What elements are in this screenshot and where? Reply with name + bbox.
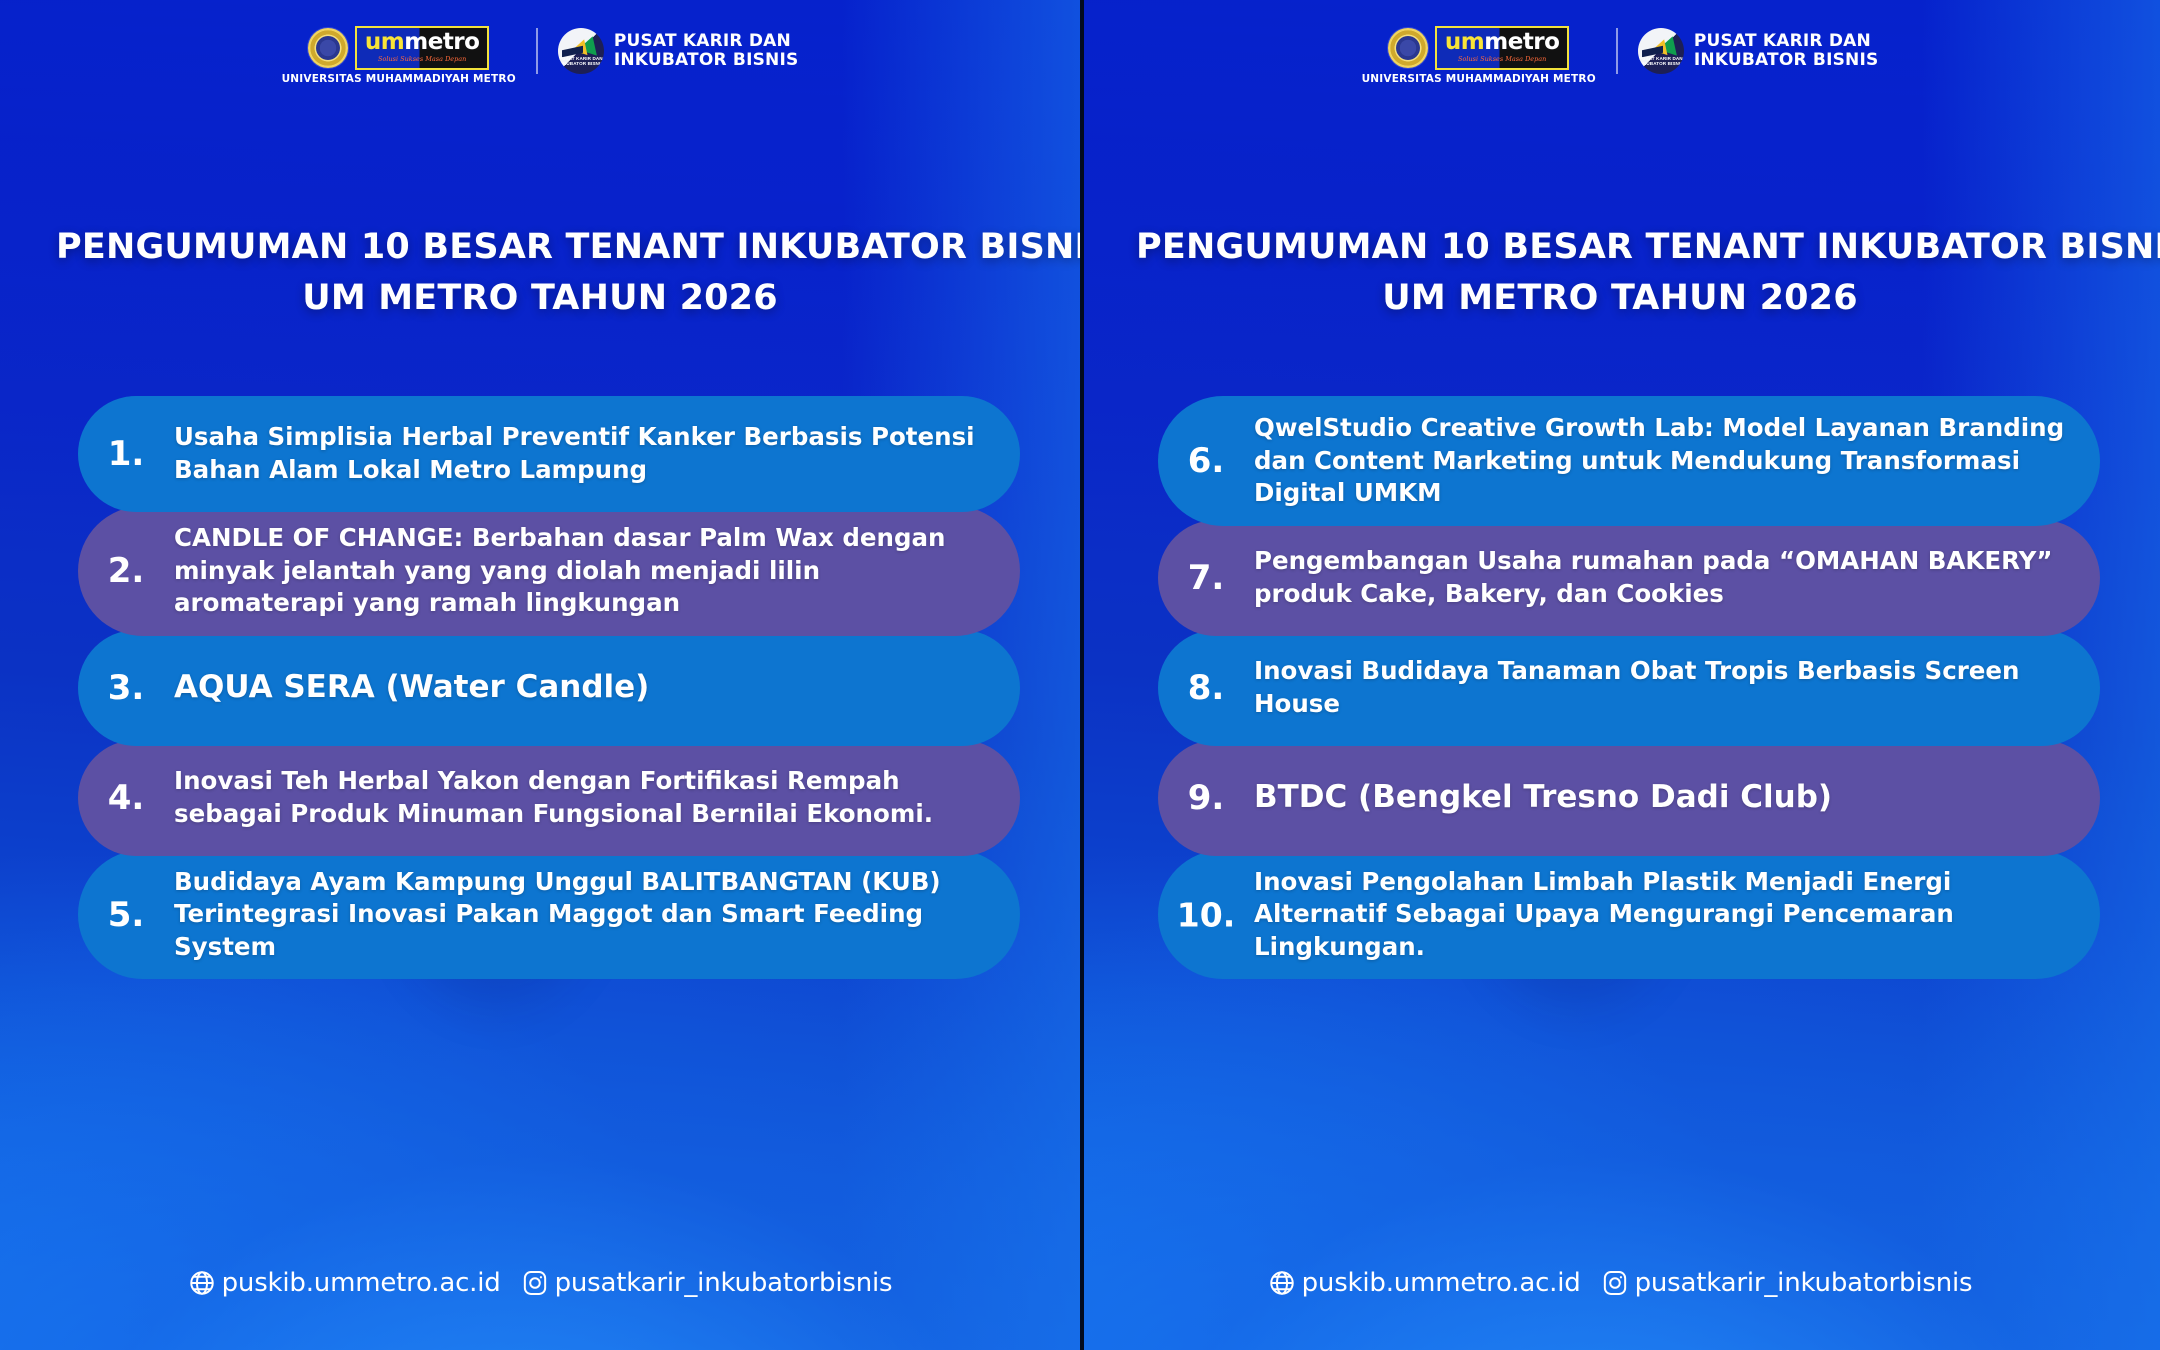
list-item-text: AQUA SERA (Water Candle) <box>174 667 649 708</box>
um-metro-wordmark: ummetro Solusi Sukses Masa Depan <box>355 26 490 70</box>
puskib-emblem-text: PUSAT KARIR DAN INKUBATOR BISNIS <box>558 56 604 67</box>
list-item-number: 9. <box>1158 781 1254 815</box>
university-name: UNIVERSITAS MUHAMMADIYAH METRO <box>1362 73 1596 85</box>
puskib-emblem-text: PUSAT KARIR DAN INKUBATOR BISNIS <box>1638 56 1684 67</box>
list-item-text: BTDC (Bengkel Tresno Dadi Club) <box>1254 777 1832 818</box>
wordmark-um: um <box>365 29 404 55</box>
wordmark-um: um <box>1445 29 1484 55</box>
list-item-number: 8. <box>1158 671 1254 705</box>
instagram-text: pusatkarir_inkubatorbisnis <box>1635 1268 1973 1298</box>
wordmark-metro: metro <box>1484 29 1559 55</box>
um-metro-wordmark: ummetro Solusi Sukses Masa Depan <box>1435 26 1570 70</box>
title-line-2: UM METRO TAHUN 2026 <box>1136 273 2104 324</box>
list-item: 7. Pengembangan Usaha rumahan pada “OMAH… <box>1158 520 2100 636</box>
list-item-number: 1. <box>78 437 174 471</box>
list-item-text: QwelStudio Creative Growth Lab: Model La… <box>1254 412 2074 510</box>
list-item-text: CANDLE OF CHANGE: Berbahan dasar Palm Wa… <box>174 522 994 620</box>
brand-header: ummetro Solusi Sukses Masa Depan UNIVERS… <box>0 26 1080 85</box>
website-link[interactable]: puskib.ummetro.ac.id <box>1268 1268 1581 1298</box>
brand-header: ummetro Solusi Sukses Masa Depan UNIVERS… <box>1080 26 2160 85</box>
unit-name-line1: PUSAT KARIR DAN <box>614 31 791 51</box>
wordmark-metro: metro <box>404 29 479 55</box>
panel-divider <box>1080 0 1084 1350</box>
unit-name-line2: INKUBATOR BISNIS <box>1694 50 1879 70</box>
list-item: 5. Budidaya Ayam Kampung Unggul BALITBAN… <box>78 850 1020 980</box>
footer-right: puskib.ummetro.ac.id pusatkarir_inkubato… <box>1080 1268 2160 1298</box>
list-item-number: 3. <box>78 671 174 705</box>
list-item: 4. Inovasi Teh Herbal Yakon dengan Forti… <box>78 740 1020 856</box>
list-item-text: Inovasi Teh Herbal Yakon dengan Fortifik… <box>174 765 994 830</box>
instagram-link[interactable]: pusatkarir_inkubatorbisnis <box>1601 1268 1973 1298</box>
list-item: 2. CANDLE OF CHANGE: Berbahan dasar Palm… <box>78 506 1020 636</box>
list-item-number: 7. <box>1158 561 1254 595</box>
university-name: UNIVERSITAS MUHAMMADIYAH METRO <box>282 73 516 85</box>
title-line-1: PENGUMUMAN 10 BESAR TENANT INKUBATOR BIS… <box>56 222 1024 273</box>
list-item-number: 6. <box>1158 444 1254 478</box>
right-panel: ummetro Solusi Sukses Masa Depan UNIVERS… <box>1080 0 2160 1350</box>
university-logo: ummetro Solusi Sukses Masa Depan UNIVERS… <box>282 26 516 85</box>
list-item-number: 4. <box>78 781 174 815</box>
university-seal-icon <box>1388 28 1428 68</box>
unit-name: PUSAT KARIR DAN INKUBATOR BISNIS <box>1694 32 1879 70</box>
university-logo: ummetro Solusi Sukses Masa Depan UNIVERS… <box>1362 26 1596 85</box>
website-text: puskib.ummetro.ac.id <box>1302 1268 1581 1298</box>
list-item-number: 2. <box>78 554 174 588</box>
globe-icon <box>1268 1269 1296 1297</box>
poster: ummetro Solusi Sukses Masa Depan UNIVERS… <box>0 0 2160 1350</box>
list-item: 10. Inovasi Pengolahan Limbah Plastik Me… <box>1158 850 2100 980</box>
footer-left: puskib.ummetro.ac.id pusatkarir_inkubato… <box>0 1268 1080 1298</box>
university-tagline: Solusi Sukses Masa Depan <box>1458 56 1546 63</box>
list-item-text: Usaha Simplisia Herbal Preventif Kanker … <box>174 421 994 486</box>
list-item-text: Inovasi Pengolahan Limbah Plastik Menjad… <box>1254 866 2074 964</box>
instagram-icon <box>1601 1269 1629 1297</box>
brand-divider <box>536 28 538 74</box>
page-title: PENGUMUMAN 10 BESAR TENANT INKUBATOR BIS… <box>56 222 1024 324</box>
website-link[interactable]: puskib.ummetro.ac.id <box>188 1268 501 1298</box>
university-seal-icon <box>308 28 348 68</box>
unit-logo: PUSAT KARIR DAN INKUBATOR BISNIS PUSAT K… <box>1638 28 1879 74</box>
globe-icon <box>188 1269 216 1297</box>
list-item-number: 5. <box>78 898 174 932</box>
unit-name-line1: PUSAT KARIR DAN <box>1694 31 1871 51</box>
list-item: 6. QwelStudio Creative Growth Lab: Model… <box>1158 396 2100 526</box>
unit-name: PUSAT KARIR DAN INKUBATOR BISNIS <box>614 32 799 70</box>
tenant-list-right: 6. QwelStudio Creative Growth Lab: Model… <box>1158 396 2100 973</box>
brand-divider <box>1616 28 1618 74</box>
list-item-number: 10. <box>1158 898 1254 931</box>
puskib-emblem-icon: PUSAT KARIR DAN INKUBATOR BISNIS <box>558 28 604 74</box>
list-item: 8. Inovasi Budidaya Tanaman Obat Tropis … <box>1158 630 2100 746</box>
list-item-text: Budidaya Ayam Kampung Unggul BALITBANGTA… <box>174 866 994 964</box>
unit-logo: PUSAT KARIR DAN INKUBATOR BISNIS PUSAT K… <box>558 28 799 74</box>
list-item-text: Pengembangan Usaha rumahan pada “OMAHAN … <box>1254 545 2074 610</box>
instagram-link[interactable]: pusatkarir_inkubatorbisnis <box>521 1268 893 1298</box>
title-line-1: PENGUMUMAN 10 BESAR TENANT INKUBATOR BIS… <box>1136 222 2104 273</box>
list-item-text: Inovasi Budidaya Tanaman Obat Tropis Ber… <box>1254 655 2074 720</box>
page-title: PENGUMUMAN 10 BESAR TENANT INKUBATOR BIS… <box>1136 222 2104 324</box>
instagram-text: pusatkarir_inkubatorbisnis <box>555 1268 893 1298</box>
website-text: puskib.ummetro.ac.id <box>222 1268 501 1298</box>
unit-name-line2: INKUBATOR BISNIS <box>614 50 799 70</box>
university-tagline: Solusi Sukses Masa Depan <box>378 56 466 63</box>
tenant-list-left: 1. Usaha Simplisia Herbal Preventif Kank… <box>78 396 1020 973</box>
list-item: 3. AQUA SERA (Water Candle) <box>78 630 1020 746</box>
instagram-icon <box>521 1269 549 1297</box>
puskib-emblem-icon: PUSAT KARIR DAN INKUBATOR BISNIS <box>1638 28 1684 74</box>
list-item: 9. BTDC (Bengkel Tresno Dadi Club) <box>1158 740 2100 856</box>
left-panel: ummetro Solusi Sukses Masa Depan UNIVERS… <box>0 0 1080 1350</box>
title-line-2: UM METRO TAHUN 2026 <box>56 273 1024 324</box>
list-item: 1. Usaha Simplisia Herbal Preventif Kank… <box>78 396 1020 512</box>
